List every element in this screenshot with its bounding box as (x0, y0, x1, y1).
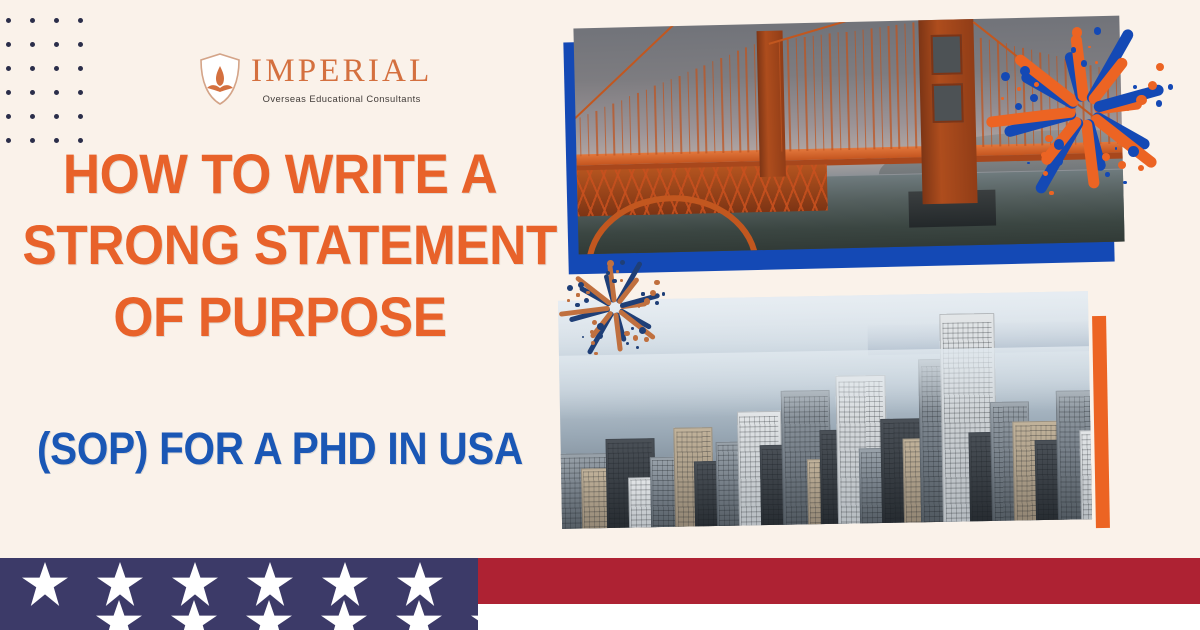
grid-dot (6, 90, 11, 95)
flag-star (322, 562, 368, 606)
firework-spark (1128, 146, 1139, 157)
grid-dot (30, 138, 35, 143)
firework-spark (1081, 60, 1088, 67)
flag-star (321, 600, 367, 630)
firework-spark (1148, 81, 1157, 90)
grid-dot (78, 66, 83, 71)
grid-dot (54, 18, 59, 23)
grid-dot (78, 114, 83, 119)
grid-dot (78, 18, 83, 23)
firework-spark (1123, 181, 1127, 185)
firework-spark (1015, 103, 1022, 110)
grid-dot (54, 42, 59, 47)
logo-tagline-text: Overseas Educational Consultants (251, 93, 432, 104)
firework-burst-small (560, 252, 670, 362)
subhead-line-1: (SOP) FOR A PHD IN USA (28, 426, 532, 471)
flag-star (96, 600, 142, 630)
dot-grid (6, 18, 106, 150)
firework-spark (1133, 85, 1137, 89)
page-title: HOW TO WRITE A STRONG STATEMENT OF PURPO… (0, 146, 560, 360)
firework-spark (636, 346, 639, 349)
firework-spark (624, 331, 630, 337)
firework-spark (1072, 27, 1083, 38)
grid-dot (54, 138, 59, 143)
photo-accent-bar-orange (1092, 316, 1110, 528)
page-subtitle: (SOP) FOR A PHD IN USA (0, 426, 560, 471)
grid-dot (54, 66, 59, 71)
flag-star (396, 600, 442, 630)
headline-line-2: STRONG STATEMENT (22, 217, 537, 272)
firework-spark (1168, 84, 1173, 89)
shield-with-flame-icon (198, 52, 242, 106)
firework-spark (644, 298, 651, 305)
firework-spark (582, 336, 584, 338)
firework-spark (639, 327, 646, 334)
firework-burst-large (985, 10, 1185, 210)
firework-spark (586, 291, 590, 295)
grid-dot (78, 90, 83, 95)
firework-spark (1027, 162, 1029, 164)
firework-spark (612, 279, 617, 284)
firework-spark (1136, 95, 1146, 105)
grid-dot (54, 90, 59, 95)
flag-star (397, 562, 443, 606)
logo-brand-text: IMPERIAL (251, 55, 432, 88)
flag-star (247, 562, 293, 606)
firework-spark (567, 299, 570, 302)
firework-spark (1045, 135, 1052, 142)
skyline-building (1079, 429, 1092, 528)
firework-spark (638, 306, 640, 308)
firework-spark (1017, 87, 1021, 91)
firework-spark (597, 333, 603, 339)
firework-spark (597, 323, 604, 330)
firework-spark (591, 341, 595, 345)
firework-spark (641, 292, 644, 295)
firework-spark (1049, 191, 1054, 196)
firework-spark (1030, 94, 1038, 102)
firework-spark (607, 260, 614, 267)
firework-spark (1094, 27, 1101, 34)
firework-spark (662, 292, 666, 296)
grid-dot (30, 90, 35, 95)
flag-star (471, 600, 478, 630)
firework-spark (1105, 172, 1110, 177)
firework-spark (1156, 100, 1162, 106)
headline-line-3: OF PURPOSE (22, 289, 537, 344)
grid-dot (54, 114, 59, 119)
firework-spark (1115, 147, 1118, 150)
firework-spark (1001, 72, 1010, 81)
firework-spark (1041, 152, 1047, 158)
grid-dot (6, 66, 11, 71)
flag-star (172, 562, 218, 606)
firework-spark (620, 260, 625, 265)
firework-spark (633, 335, 638, 340)
firework-spark (616, 270, 618, 272)
firework-spark (1054, 139, 1064, 149)
firework-spark (594, 352, 597, 355)
firework-spark (655, 301, 659, 305)
firework-spark (1001, 97, 1004, 100)
imperial-logo: IMPERIAL Overseas Educational Consultant… (198, 52, 432, 106)
firework-spark (644, 337, 649, 342)
flag-star (22, 562, 68, 606)
firework-spark (584, 298, 589, 303)
firework-spark (1156, 63, 1164, 71)
firework-spark (1102, 153, 1111, 162)
grid-dot (6, 42, 11, 47)
firework-spark (1138, 165, 1145, 172)
flag-star (171, 600, 217, 630)
firework-spark (654, 280, 660, 286)
firework-spark (567, 285, 573, 291)
firework-spark (576, 293, 579, 296)
usa-flag-banner (0, 558, 1200, 630)
grid-dot (30, 114, 35, 119)
firework-spark (1127, 109, 1129, 111)
flag-top-spacer (0, 548, 1200, 558)
headline-line-1: HOW TO WRITE A (22, 146, 537, 201)
grid-dot (30, 66, 35, 71)
flag-star (246, 600, 292, 630)
grid-dot (6, 114, 11, 119)
flag-canton (0, 558, 478, 630)
grid-dot (30, 42, 35, 47)
firework-spark (1095, 61, 1098, 64)
firework-spark (631, 327, 633, 329)
firework-spark (575, 303, 580, 308)
grid-dot (30, 18, 35, 23)
firework-spark (626, 342, 629, 345)
grid-dot (6, 138, 11, 143)
grid-dot (78, 42, 83, 47)
flag-star (97, 562, 143, 606)
firework-spark (1088, 46, 1091, 49)
firework-spark (620, 279, 623, 282)
grid-dot (6, 18, 11, 23)
firework-spark (1020, 66, 1030, 76)
firework-spark (1118, 161, 1126, 169)
firework-spark (1054, 157, 1063, 166)
